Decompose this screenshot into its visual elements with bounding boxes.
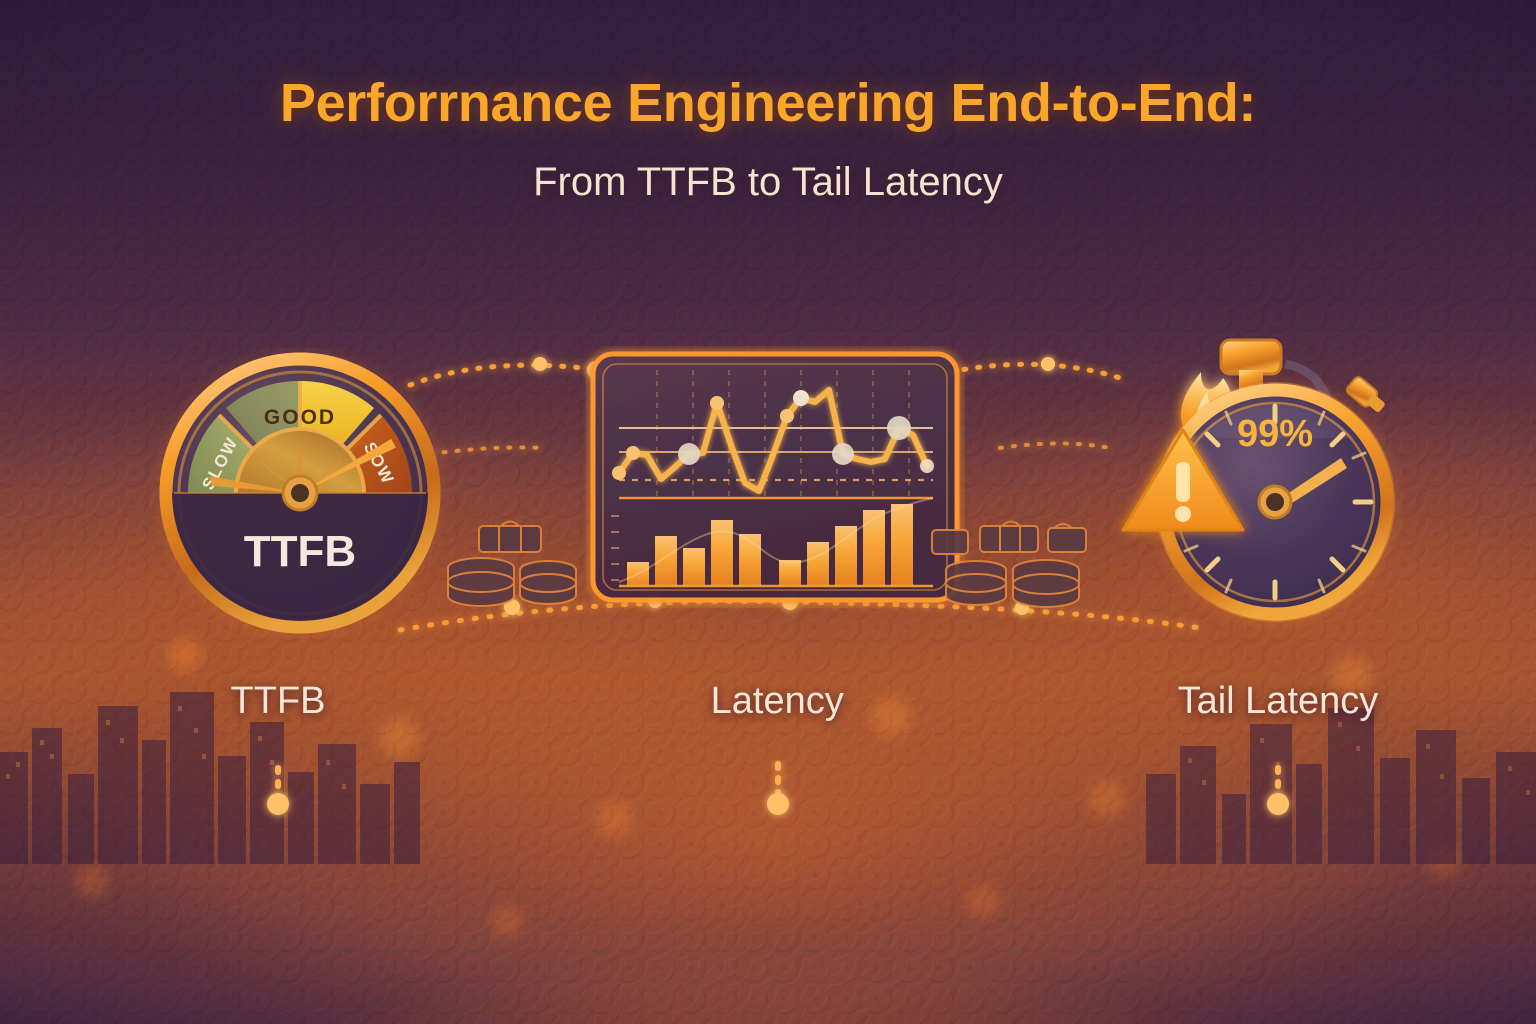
page-title: Perforrnance Engineering End-to-End: <box>0 72 1536 134</box>
page-subtitle: From TTFB to Tail Latency <box>0 160 1536 205</box>
stage-label-latency: Latency <box>711 680 844 723</box>
stopwatch-crown <box>1221 340 1281 374</box>
latency-dashboard-panel <box>585 346 965 613</box>
tail-latency-stopwatch: 99% <box>1075 334 1415 639</box>
ttfb-gauge: SLOW GOOD SOW TTFB <box>150 348 450 643</box>
stage-label-tail-latency: Tail Latency <box>1178 680 1379 723</box>
timeline-node-latency[interactable] <box>767 793 789 815</box>
stopwatch-dial-label: 99% <box>1237 413 1313 455</box>
timeline-node-ttfb[interactable] <box>267 793 289 815</box>
timeline-node-tail-latency[interactable] <box>1267 793 1289 815</box>
gauge-zone-label-good: GOOD <box>264 406 336 429</box>
icon-band: SLOW GOOD SOW TTFB <box>0 330 1536 630</box>
timeline-connector-stems <box>278 764 1278 802</box>
title-block: Perforrnance Engineering End-to-End: Fro… <box>0 72 1536 205</box>
stage-label-ttfb: TTFB <box>231 680 326 723</box>
database-stack-left <box>445 520 595 612</box>
journey-timeline <box>0 760 1536 830</box>
stage-labels: TTFB Latency Tail Latency <box>0 680 1536 750</box>
database-stack-right <box>928 518 1088 613</box>
cityscape-silhouette-left <box>0 644 420 864</box>
poster-canvas: Perforrnance Engineering End-to-End: Fro… <box>0 0 1536 1024</box>
gauge-center-label: TTFB <box>244 527 356 576</box>
